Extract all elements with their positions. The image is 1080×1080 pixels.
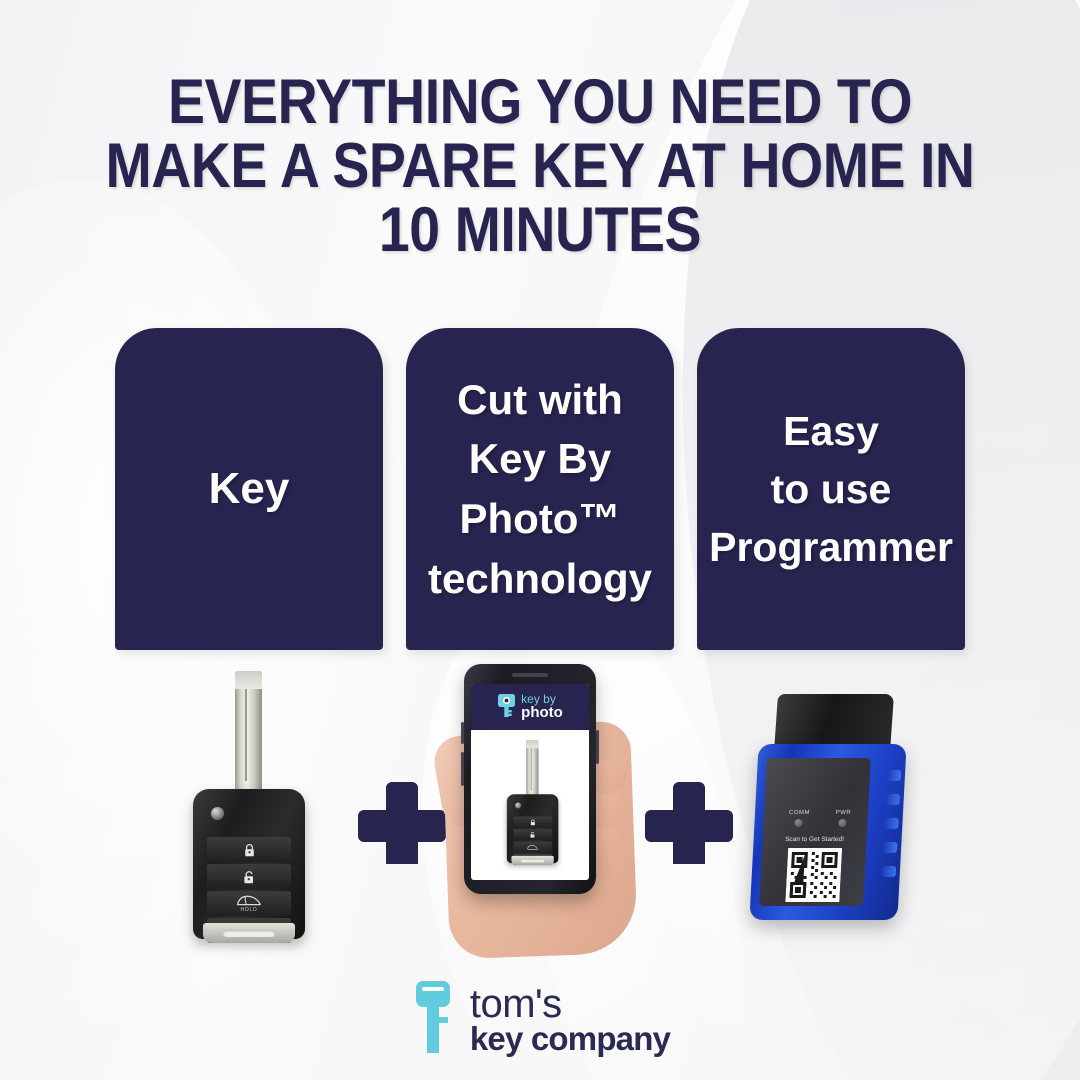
camera-key-icon <box>497 692 516 723</box>
feature-card-key-label: Key <box>209 458 290 520</box>
obd-led-group: COMM PWR <box>775 810 864 827</box>
app-logo-bottom-line: photo <box>521 706 563 721</box>
feature-card-programmer[interactable]: Easy to use Programmer <box>697 328 965 650</box>
key-fob-base <box>203 923 295 943</box>
obd-ridge-2 <box>885 794 900 805</box>
product-image-row: HOLD <box>115 660 965 960</box>
screen-lock-button <box>513 816 552 828</box>
screen-key-screw-icon <box>515 803 521 809</box>
key-fob-image: HOLD <box>189 671 309 949</box>
feature-card-group: Key Cut with Key By Photo™ technology Ea… <box>115 328 965 650</box>
brand-logo: tom's key company <box>0 981 1080 1058</box>
phone-screen[interactable]: key by photo <box>471 684 589 880</box>
obd-scan-instruction: Scan to Get Started! <box>762 836 866 843</box>
page-title: EVERYTHING YOU NEED TO MAKE A SPARE KEY … <box>65 70 1015 262</box>
unlock-button[interactable] <box>207 864 291 889</box>
obd-ridge-5 <box>882 866 897 877</box>
feature-card-keybyphoto[interactable]: Cut with Key By Photo™ technology <box>406 328 674 650</box>
phone-power-button[interactable] <box>596 730 599 764</box>
product-programmer-slot: COMM PWR Scan to Get Started! <box>697 660 965 960</box>
obd-led-comm: COMM <box>788 810 810 827</box>
trunk-icon <box>236 895 262 906</box>
poster-canvas: EVERYTHING YOU NEED TO MAKE A SPARE KEY … <box>0 0 1080 1080</box>
obd-led-comm-indicator <box>795 819 803 827</box>
brand-wordmark: tom's key company <box>470 984 670 1055</box>
lock-button[interactable] <box>207 837 291 862</box>
key-blade-tip-icon <box>235 671 262 689</box>
trunk-button[interactable]: HOLD <box>207 891 291 916</box>
trunk-icon <box>527 845 539 850</box>
key-logo-icon <box>410 981 456 1058</box>
product-phone-slot: key by photo <box>406 660 674 960</box>
obd-ridge-3 <box>884 818 899 829</box>
headline-line-3: 10 MINUTES <box>65 198 1015 262</box>
feature-card-key[interactable]: Key <box>115 328 383 650</box>
headline-line-2: MAKE A SPARE KEY AT HOME IN <box>65 134 1015 198</box>
screen-key-blade-icon <box>526 740 538 799</box>
obd-programmer-image: COMM PWR Scan to Get Started! <box>738 694 924 926</box>
screen-trunk-button <box>513 841 552 853</box>
obd-led-pwr-label: PWR <box>835 810 851 816</box>
key-fob-screw-icon <box>211 807 224 820</box>
screen-key-blade-tip-icon <box>526 740 538 748</box>
phone-volume-up-button[interactable] <box>461 722 464 744</box>
qr-code-icon[interactable] <box>785 848 842 907</box>
feature-card-keybyphoto-label: Cut with Key By Photo™ technology <box>428 370 652 609</box>
obd-led-comm-label: COMM <box>789 810 810 816</box>
obd-led-pwr: PWR <box>835 810 851 827</box>
phone-screen-key-photo <box>505 740 560 868</box>
screen-key-base <box>511 856 553 865</box>
lock-icon <box>243 843 256 858</box>
screen-unlock-button <box>513 829 552 841</box>
obd-faceplate: COMM PWR Scan to Get Started! <box>759 758 871 906</box>
obd-ridge-4 <box>883 842 898 853</box>
phone-speaker-icon <box>512 673 548 677</box>
unlock-icon <box>242 870 256 885</box>
obd-led-pwr-indicator <box>839 819 847 827</box>
headline-line-1: EVERYTHING YOU NEED TO <box>65 70 1015 134</box>
phone-volume-down-button[interactable] <box>461 752 464 786</box>
product-keyfob-slot: HOLD <box>115 660 383 960</box>
lock-icon <box>530 819 536 826</box>
feature-card-programmer-label: Easy to use Programmer <box>709 402 953 577</box>
brand-name-top: tom's <box>470 984 670 1024</box>
brand-name-bottom: key company <box>470 1022 670 1055</box>
unlock-icon <box>529 831 535 838</box>
key-blade-icon <box>235 671 262 799</box>
obd-ridge-1 <box>887 770 902 781</box>
smartphone[interactable]: key by photo <box>464 664 596 894</box>
app-header-banner: key by photo <box>471 684 589 730</box>
app-logo-wordmark: key by photo <box>521 694 563 720</box>
hand-holding-phone-image: key by photo <box>440 664 640 956</box>
trunk-button-label: HOLD <box>240 907 257 913</box>
obd-housing: COMM PWR Scan to Get Started! <box>749 744 906 920</box>
